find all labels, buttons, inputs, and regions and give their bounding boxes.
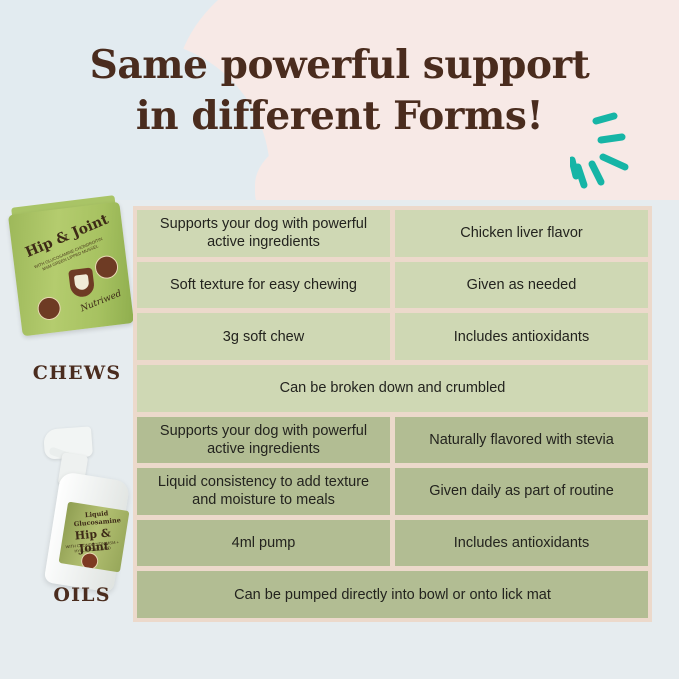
table-row: Supports your dog with powerful active i…	[137, 417, 648, 464]
table-row: Soft texture for easy chewing Given as n…	[137, 262, 648, 309]
table-cell: Includes antioxidants	[395, 520, 648, 567]
table-row: Liquid consistency to add texture and mo…	[137, 468, 648, 515]
table-cell: Given daily as part of routine	[395, 468, 648, 515]
table-cell: Supports your dog with powerful active i…	[137, 210, 390, 257]
starburst-icon	[570, 112, 660, 192]
comparison-table: Supports your dog with powerful active i…	[133, 206, 652, 622]
oils-bottle-image: Liquid Glucosamine Hip & Joint WITH CHON…	[22, 418, 130, 588]
table-row: 4ml pump Includes antioxidants	[137, 520, 648, 567]
table-row: Can be broken down and crumbled	[137, 365, 648, 412]
table-cell: 4ml pump	[137, 520, 390, 567]
table-row: Can be pumped directly into bowl or onto…	[137, 571, 648, 618]
table-cell-merged: Can be broken down and crumbled	[137, 365, 648, 412]
oils-label: OILS	[12, 584, 152, 606]
table-cell: 3g soft chew	[137, 313, 390, 360]
table-cell: Soft texture for easy chewing	[137, 262, 390, 309]
table-cell: Includes antioxidants	[395, 313, 648, 360]
table-cell: Naturally flavored with stevia	[395, 417, 648, 464]
table-cell: Supports your dog with powerful active i…	[137, 417, 390, 464]
table-row: Supports your dog with powerful active i…	[137, 210, 648, 257]
table-cell-merged: Can be pumped directly into bowl or onto…	[137, 571, 648, 618]
infographic-canvas: Same powerful support in different Forms…	[0, 0, 679, 679]
page-title-line-1: Same powerful support	[0, 40, 679, 91]
chews-label: CHEWS	[7, 362, 147, 384]
table-cell: Chicken liver flavor	[395, 210, 648, 257]
table-cell: Given as needed	[395, 262, 648, 309]
table-cell: Liquid consistency to add texture and mo…	[137, 468, 390, 515]
chews-package-image: Hip & Joint WITH GLUCOSAMINE CHONDROITIN…	[8, 202, 134, 337]
bottle-label: Liquid Glucosamine Hip & Joint WITH CHON…	[59, 502, 130, 573]
table-row: 3g soft chew Includes antioxidants	[137, 313, 648, 360]
